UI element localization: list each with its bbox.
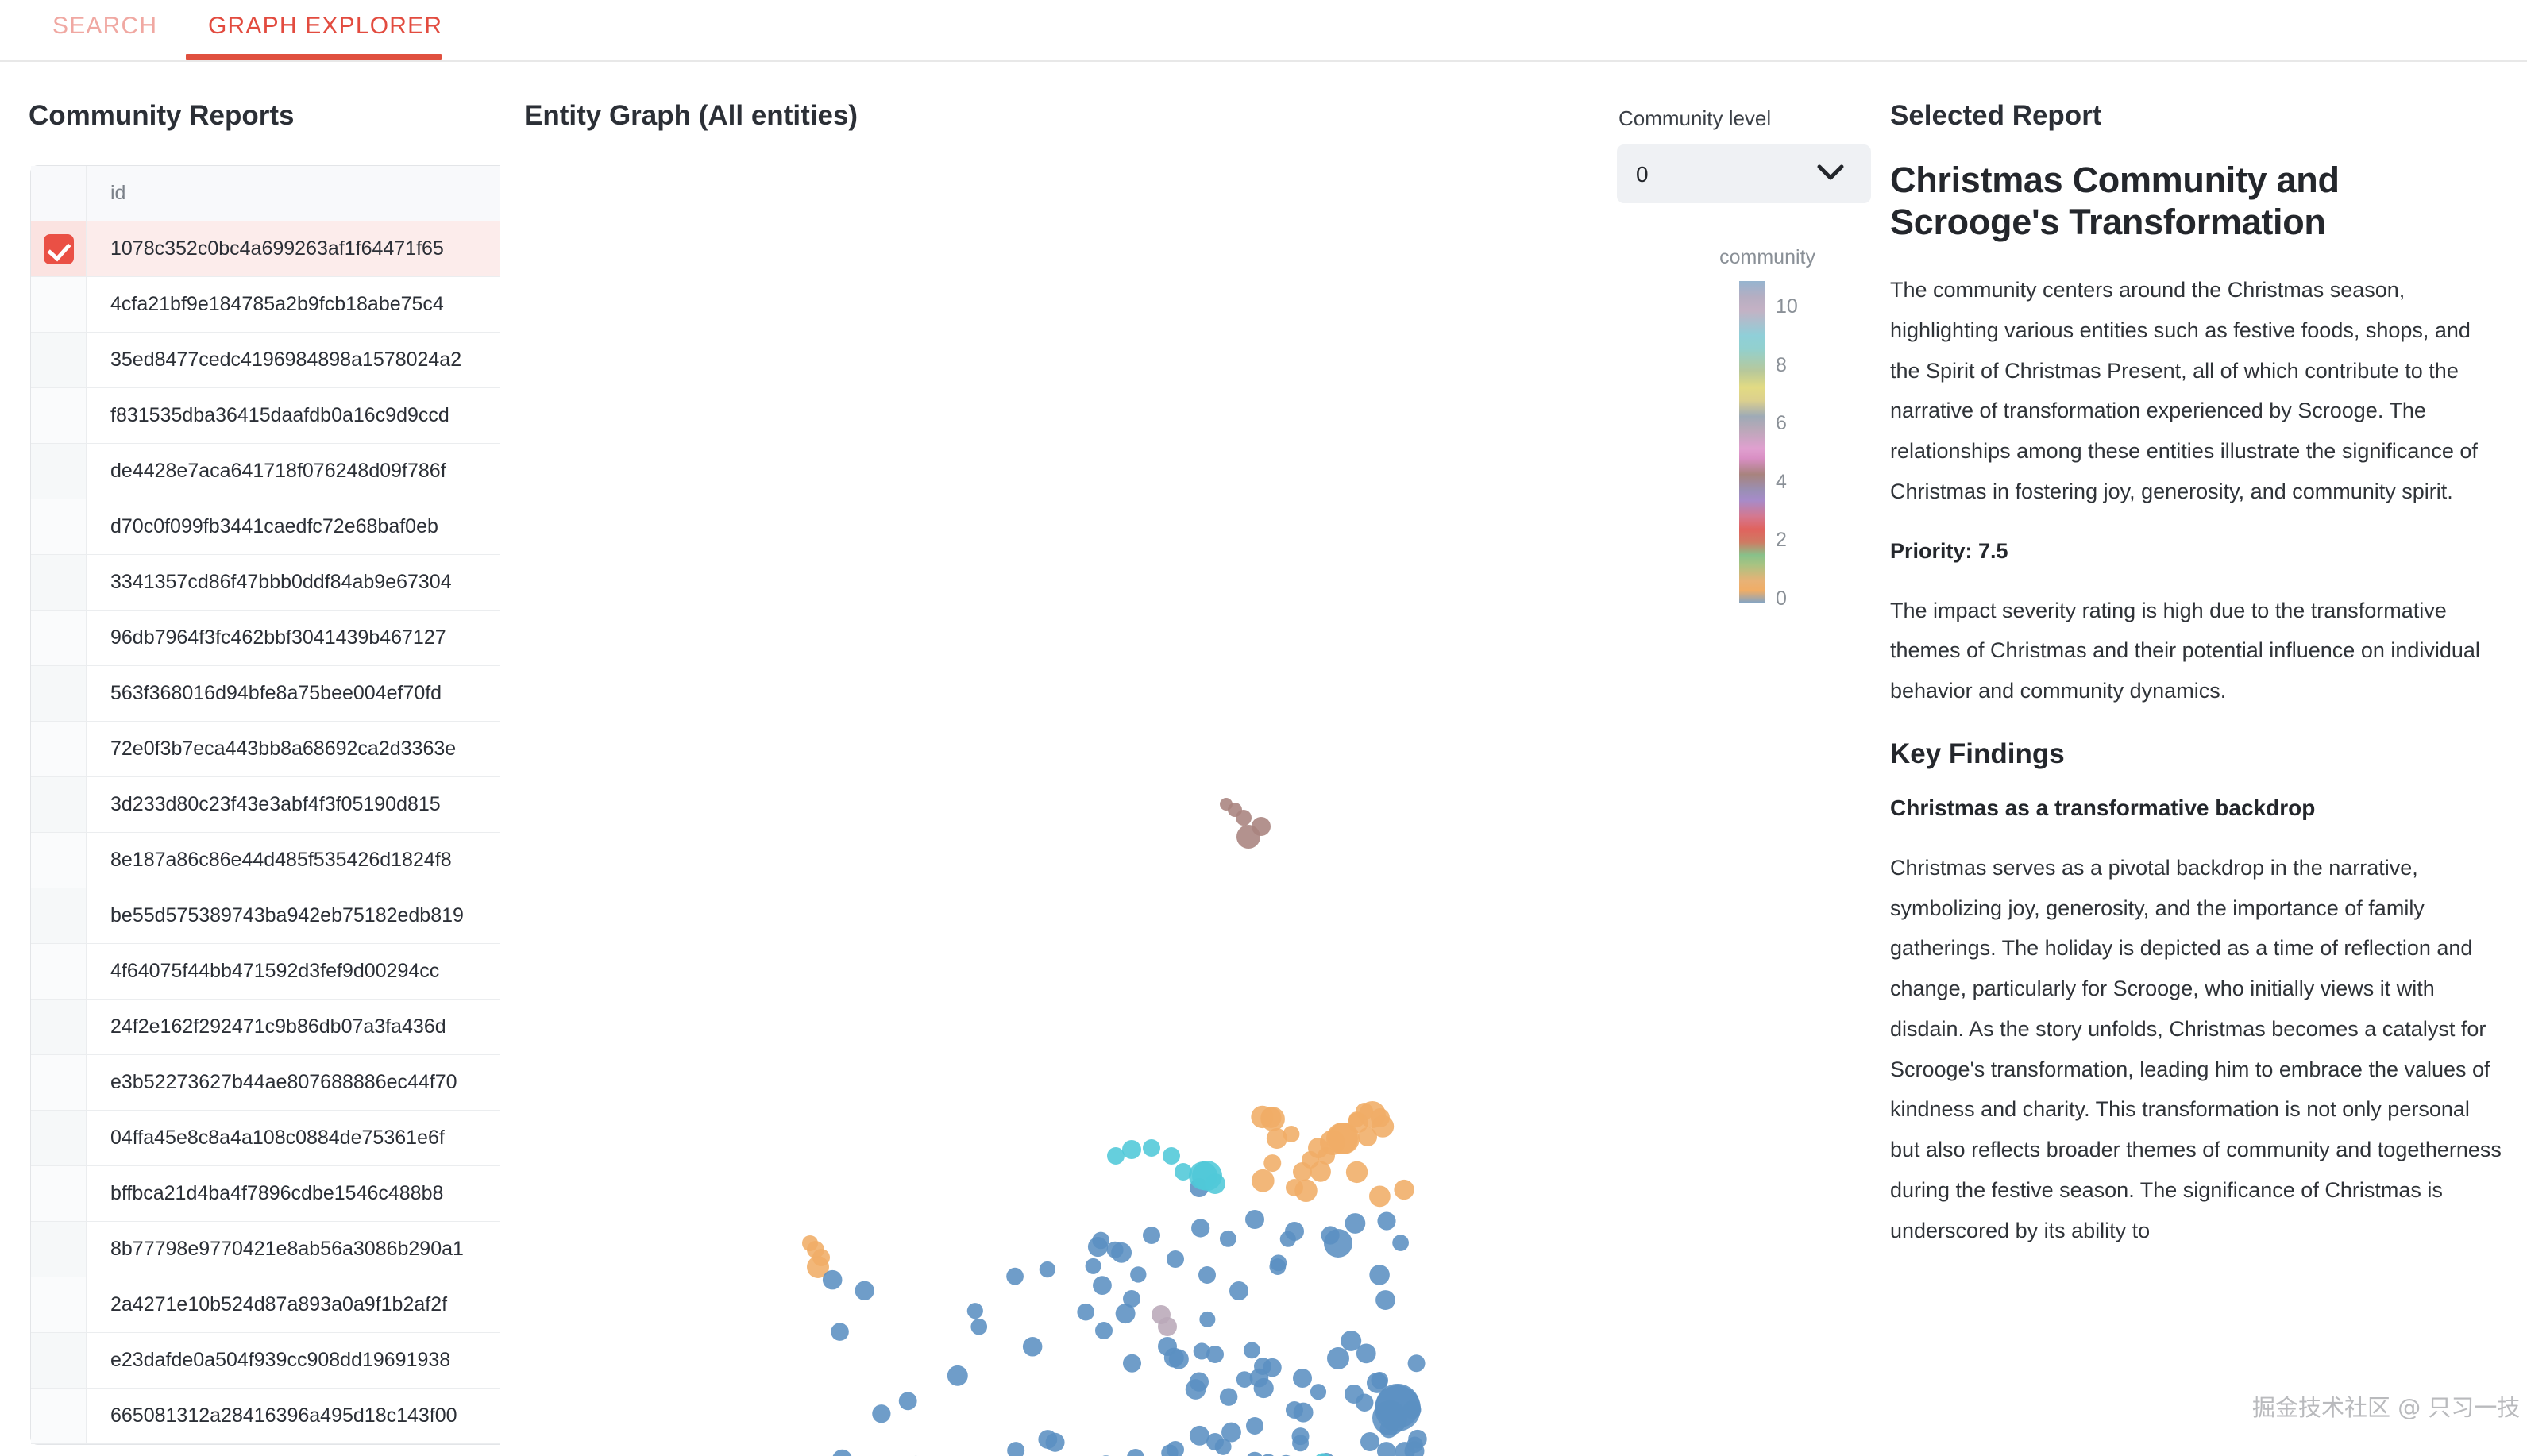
graph-node[interactable] xyxy=(1369,1265,1390,1285)
cell-title: Co xyxy=(484,499,500,555)
table-row[interactable]: be55d575389743ba942eb75182edb819Fe xyxy=(31,888,500,944)
cell-title: Cr xyxy=(484,666,500,722)
checkbox-icon[interactable] xyxy=(44,568,74,598)
cell-title: Fe xyxy=(484,944,500,1000)
table-row[interactable]: 8b77798e9770421e8ab56a3086b290a1Ma xyxy=(31,1222,500,1277)
graph-node[interactable] xyxy=(1294,1403,1314,1423)
graph-node[interactable] xyxy=(1023,1337,1042,1356)
checkbox-icon[interactable] xyxy=(44,957,74,987)
report-heading: Christmas Community and Scrooge's Transf… xyxy=(1890,159,2502,243)
column-header-title[interactable]: ↑ t xyxy=(484,166,500,221)
row-checkbox-cell[interactable] xyxy=(31,277,87,333)
community-level-label: Community level xyxy=(1618,106,1771,131)
cell-title: Ch xyxy=(484,221,500,277)
legend-title: community xyxy=(1719,246,1815,269)
legend-tick-8: 8 xyxy=(1776,354,1787,377)
cell-id: 665081312a28416396a495d18c143f00 xyxy=(87,1389,484,1444)
table-row[interactable]: 665081312a28416396a495d18c143f00Ol xyxy=(31,1389,500,1444)
report-priority: Priority: 7.5 xyxy=(1890,539,2502,564)
cell-id: be55d575389743ba942eb75182edb819 xyxy=(87,888,484,944)
row-checkbox-cell[interactable] xyxy=(31,611,87,666)
report-summary: The community centers around the Christm… xyxy=(1890,270,2502,512)
graph-node[interactable] xyxy=(1220,1388,1237,1405)
cell-id: 35ed8477cedc4196984898a1578024a2 xyxy=(87,333,484,388)
checkbox-icon[interactable] xyxy=(44,1068,74,1098)
cell-id: 72e0f3b7eca443bb8a68692ca2d3363e xyxy=(87,722,484,777)
graph-node[interactable] xyxy=(967,1303,983,1319)
checkbox-icon[interactable] xyxy=(44,1290,74,1320)
cell-id: e3b52273627b44ae807688886ec44f70 xyxy=(87,1055,484,1111)
graph-node[interactable] xyxy=(1377,1442,1396,1456)
graph-node[interactable] xyxy=(1158,1317,1177,1336)
graph-node[interactable] xyxy=(1292,1427,1310,1445)
graph-node[interactable] xyxy=(1191,1219,1209,1237)
cell-id: 24f2e162f292471c9b86db07a3fa436d xyxy=(87,1000,484,1055)
graph-node[interactable] xyxy=(1040,1261,1055,1277)
checkbox-icon[interactable] xyxy=(44,512,74,542)
table-row[interactable]: f831535dba36415daafdb0a16c9d9ccdCh xyxy=(31,388,500,444)
graph-node[interactable] xyxy=(1263,1154,1281,1172)
graph-node[interactable] xyxy=(1250,1369,1269,1388)
graph-node[interactable] xyxy=(1293,1162,1312,1181)
graph-node[interactable] xyxy=(1294,1179,1318,1202)
graph-node[interactable] xyxy=(1280,1231,1296,1247)
graph-node[interactable] xyxy=(1375,1290,1395,1310)
graph-node[interactable] xyxy=(1127,1449,1144,1456)
cell-id: 4f64075f44bb471592d3fef9d00294cc xyxy=(87,944,484,1000)
cell-id: f831535dba36415daafdb0a16c9d9ccd xyxy=(87,388,484,444)
cell-title: Ol xyxy=(484,1389,500,1444)
graph-node[interactable] xyxy=(1093,1276,1112,1295)
graph-node-hub[interactable] xyxy=(1375,1385,1421,1431)
graph-node[interactable] xyxy=(1163,1147,1180,1165)
graph-node[interactable] xyxy=(1246,1452,1263,1456)
row-checkbox-cell[interactable] xyxy=(31,1333,87,1389)
community-level-select[interactable]: 01234 xyxy=(1617,144,1871,203)
graph-node[interactable] xyxy=(1341,1331,1361,1351)
graph-node[interactable] xyxy=(1345,1213,1366,1234)
active-tab-indicator xyxy=(186,54,442,60)
legend-tick-0: 0 xyxy=(1776,587,1787,611)
row-checkbox-cell[interactable] xyxy=(31,888,87,944)
graph-node[interactable] xyxy=(1220,1231,1236,1247)
table-row[interactable]: 2a4271e10b524d87a893a0a9f1b2af2fMe xyxy=(31,1277,500,1333)
checkbox-icon[interactable] xyxy=(44,1012,74,1042)
table-row[interactable]: 8e187a86c86e44d485f535426d1824f8Eb xyxy=(31,833,500,888)
row-checkbox-cell[interactable] xyxy=(31,499,87,555)
key-findings-heading: Key Findings xyxy=(1890,738,2502,770)
cell-id: e23dafde0a504f939cc908dd19691938 xyxy=(87,1333,484,1389)
tab-search[interactable]: SEARCH xyxy=(41,6,168,57)
cell-title: Ch xyxy=(484,444,500,499)
cell-id: d70c0f099fb3441caedfc72e68baf0eb xyxy=(87,499,484,555)
graph-node[interactable] xyxy=(1122,1140,1141,1159)
checkbox-icon[interactable] xyxy=(44,679,74,709)
cell-id: 1078c352c0bc4a699263af1f64471f65 xyxy=(87,221,484,277)
graph-node[interactable] xyxy=(1360,1432,1379,1451)
checkbox-icon[interactable] xyxy=(44,290,74,320)
graph-node[interactable] xyxy=(1007,1442,1024,1456)
cell-title: Ol xyxy=(484,1333,500,1389)
graph-node-hub[interactable] xyxy=(1192,1161,1222,1191)
graph-node[interactable] xyxy=(1086,1258,1101,1274)
graph-node[interactable] xyxy=(899,1392,917,1410)
row-checkbox-cell[interactable] xyxy=(31,1277,87,1333)
graph-node[interactable] xyxy=(832,1450,852,1456)
graph-node[interactable] xyxy=(1267,1128,1287,1149)
row-checkbox-cell[interactable] xyxy=(31,1055,87,1111)
row-checkbox-cell[interactable] xyxy=(31,221,87,277)
table-row[interactable]: 3341357cd86f47bbb0ddf84ab9e67304Co xyxy=(31,555,500,611)
entity-graph-title: Entity Graph (All entities) xyxy=(524,100,858,132)
checkbox-icon[interactable] xyxy=(44,1235,74,1265)
graph-node[interactable] xyxy=(947,1365,968,1386)
graph-node[interactable] xyxy=(1293,1369,1312,1388)
graph-node[interactable] xyxy=(855,1281,874,1300)
cell-id: 96db7964f3fc462bbf3041439b467127 xyxy=(87,611,484,666)
cell-title: Lig xyxy=(484,1111,500,1166)
checkbox-icon[interactable] xyxy=(44,734,74,765)
row-checkbox-cell[interactable] xyxy=(31,666,87,722)
finding-title: Christmas as a transformative backdrop xyxy=(1890,795,2502,821)
graph-node[interactable] xyxy=(1246,1417,1263,1435)
graph-node[interactable] xyxy=(1186,1379,1206,1400)
cell-title: Eb xyxy=(484,722,500,777)
checkbox-checked-icon[interactable] xyxy=(44,234,74,264)
cell-title: Ch xyxy=(484,388,500,444)
checkbox-icon[interactable] xyxy=(44,345,74,376)
graph-node[interactable] xyxy=(1260,1107,1285,1131)
cell-id: 3341357cd86f47bbb0ddf84ab9e67304 xyxy=(87,555,484,611)
tab-bar: SEARCH GRAPH EXPLORER xyxy=(0,0,2527,62)
row-checkbox-cell[interactable] xyxy=(31,1222,87,1277)
checkbox-icon[interactable] xyxy=(44,901,74,931)
cell-id: de4428e7aca641718f076248d09f786f xyxy=(87,444,484,499)
cell-id: 2a4271e10b524d87a893a0a9f1b2af2f xyxy=(87,1277,484,1333)
row-checkbox-cell[interactable] xyxy=(31,722,87,777)
graph-node-hub[interactable] xyxy=(1328,1123,1360,1154)
community-reports-title: Community Reports xyxy=(29,100,294,132)
cell-title: Ch xyxy=(484,277,500,333)
graph-node[interactable] xyxy=(1356,1393,1374,1412)
graph-node[interactable] xyxy=(1046,1433,1065,1452)
checkbox-icon[interactable] xyxy=(44,401,74,431)
checkbox-icon[interactable] xyxy=(44,1401,74,1431)
row-checkbox-cell[interactable] xyxy=(31,1111,87,1166)
graph-node[interactable] xyxy=(1190,1426,1209,1446)
row-checkbox-cell[interactable] xyxy=(31,1166,87,1222)
graph-node[interactable] xyxy=(1092,1232,1109,1250)
cell-title: Ge xyxy=(484,1000,500,1055)
cell-id: 3d233d80c23f43e3abf4f3f05190d815 xyxy=(87,777,484,833)
graph-node[interactable] xyxy=(872,1404,890,1423)
table-row[interactable]: 1078c352c0bc4a699263af1f64471f65Ch xyxy=(31,221,500,277)
table-row[interactable]: 3d233d80c23f43e3abf4f3f05190d815Eb xyxy=(31,777,500,833)
graph-node[interactable] xyxy=(823,1270,843,1290)
graph-node[interactable] xyxy=(1327,1347,1349,1369)
graph-node[interactable] xyxy=(1123,1354,1141,1373)
table-body: 1078c352c0bc4a699263af1f64471f65Ch4cfa21… xyxy=(31,221,500,1444)
cell-title: Fe xyxy=(484,888,500,944)
graph-node[interactable] xyxy=(1164,1348,1184,1368)
checkbox-icon[interactable] xyxy=(44,1123,74,1154)
graph-node[interactable] xyxy=(1310,1161,1331,1182)
checkbox-icon[interactable] xyxy=(44,456,74,487)
graph-node[interactable] xyxy=(1245,1210,1264,1229)
table-row[interactable]: e3b52273627b44ae807688886ec44f70Im xyxy=(31,1055,500,1111)
community-reports-table: id ↑ t 1078c352c0bc4a699263af1f64471f65C… xyxy=(30,165,500,1445)
graph-node[interactable] xyxy=(1111,1242,1132,1263)
row-checkbox-cell[interactable] xyxy=(31,444,87,499)
graph-node[interactable] xyxy=(802,1235,818,1251)
row-checkbox-cell[interactable] xyxy=(31,1000,87,1055)
graph-node[interactable] xyxy=(1198,1266,1216,1284)
graph-node[interactable] xyxy=(1244,1342,1260,1358)
cell-id: bffbca21d4ba4f7896cdbe1546c488b8 xyxy=(87,1166,484,1222)
cell-id: 8b77798e9770421e8ab56a3086b290a1 xyxy=(87,1222,484,1277)
table-header: id ↑ t xyxy=(31,166,500,221)
selected-report-title: Selected Report xyxy=(1890,100,2101,132)
cell-title: Eb xyxy=(484,777,500,833)
cell-title: Co xyxy=(484,555,500,611)
table-row[interactable]: 96db7964f3fc462bbf3041439b467127Cr xyxy=(31,611,500,666)
legend-tick-10: 10 xyxy=(1776,295,1798,318)
graph-node[interactable] xyxy=(1107,1147,1125,1165)
selected-report-body: Christmas Community and Scrooge's Transf… xyxy=(1890,159,2502,1456)
graph-node[interactable] xyxy=(970,1319,987,1335)
graph-node[interactable] xyxy=(1346,1161,1368,1183)
table-row[interactable]: d70c0f099fb3441caedfc72e68baf0ebCo xyxy=(31,499,500,555)
graph-node[interactable] xyxy=(1406,1437,1422,1453)
cell-title: Ma xyxy=(484,1166,500,1222)
graph-node[interactable] xyxy=(1095,1322,1113,1339)
graph-node[interactable] xyxy=(1167,1250,1184,1268)
graph-node[interactable] xyxy=(1143,1227,1160,1244)
legend-gradient-bar xyxy=(1739,281,1765,603)
cell-title: Me xyxy=(484,1277,500,1333)
cell-id: 4cfa21bf9e184785a2b9fcb18abe75c4 xyxy=(87,277,484,333)
graph-node[interactable] xyxy=(1143,1139,1160,1157)
graph-node[interactable] xyxy=(1199,1312,1215,1327)
cell-title: Ma xyxy=(484,1222,500,1277)
report-priority-explanation: The impact severity rating is high due t… xyxy=(1890,591,2502,711)
graph-node[interactable] xyxy=(1269,1258,1286,1275)
graph-node[interactable] xyxy=(1369,1186,1391,1208)
graph-node[interactable] xyxy=(1229,1281,1248,1300)
graph-node[interactable] xyxy=(1252,817,1271,836)
table-row[interactable]: e23dafde0a504f939cc908dd19691938Ol xyxy=(31,1333,500,1389)
table-row[interactable]: 35ed8477cedc4196984898a1578024a2Ch xyxy=(31,333,500,388)
cell-title: Im xyxy=(484,1055,500,1111)
cell-title: Cr xyxy=(484,611,500,666)
graph-node-group xyxy=(802,798,1427,1456)
checkbox-icon[interactable] xyxy=(44,623,74,653)
legend-tick-4: 4 xyxy=(1776,471,1787,494)
checkbox-icon[interactable] xyxy=(44,790,74,820)
cell-title: Ch xyxy=(484,333,500,388)
community-reports-table-wrapper[interactable]: id ↑ t 1078c352c0bc4a699263af1f64471f65C… xyxy=(30,165,500,1456)
graph-node[interactable] xyxy=(1221,1423,1241,1443)
graph-node[interactable] xyxy=(1116,1304,1136,1323)
graph-node[interactable] xyxy=(1408,1354,1426,1372)
graph-node[interactable] xyxy=(1194,1342,1210,1359)
table-row[interactable]: 72e0f3b7eca443bb8a68692ca2d3363eEb xyxy=(31,722,500,777)
cell-id: 8e187a86c86e44d485f535426d1824f8 xyxy=(87,833,484,888)
cell-id: 04ffa45e8c8a4a108c0884de75361e6f xyxy=(87,1111,484,1166)
community-colorbar-legend: community 10 8 6 4 2 0 xyxy=(1739,246,1874,603)
finding-body: Christmas serves as a pivotal backdrop i… xyxy=(1890,848,2502,1251)
column-header-id[interactable]: id xyxy=(87,166,484,221)
row-checkbox-cell[interactable] xyxy=(31,333,87,388)
table-row[interactable]: 563f368016d94bfe8a75bee004ef70fdCr xyxy=(31,666,500,722)
table-row[interactable]: 4cfa21bf9e184785a2b9fcb18abe75c4Ch xyxy=(31,277,500,333)
graph-node[interactable] xyxy=(1372,1115,1394,1138)
graph-node[interactable] xyxy=(1220,798,1233,811)
graph-node[interactable] xyxy=(1377,1211,1395,1230)
graph-node[interactable] xyxy=(1006,1268,1024,1285)
table-row[interactable]: 24f2e162f292471c9b86db07a3fa436dGe xyxy=(31,1000,500,1055)
cell-title: Eb xyxy=(484,833,500,888)
table-header-row: id ↑ t xyxy=(31,166,500,221)
graph-node[interactable] xyxy=(1077,1304,1094,1321)
graph-node[interactable] xyxy=(1321,1226,1339,1244)
graph-node[interactable] xyxy=(1252,1169,1275,1192)
row-checkbox-cell[interactable] xyxy=(31,833,87,888)
graph-node[interactable] xyxy=(1310,1384,1326,1400)
select-all-header[interactable] xyxy=(31,166,87,221)
entity-graph-canvas[interactable] xyxy=(508,140,1604,1456)
row-checkbox-cell[interactable] xyxy=(31,555,87,611)
row-checkbox-cell[interactable] xyxy=(31,944,87,1000)
graph-node[interactable] xyxy=(1130,1266,1146,1282)
graph-node[interactable] xyxy=(1392,1235,1409,1251)
graph-node[interactable] xyxy=(1394,1180,1414,1200)
table-row[interactable]: 4f64075f44bb471592d3fef9d00294ccFe xyxy=(31,944,500,1000)
legend-tick-6: 6 xyxy=(1776,412,1787,435)
row-checkbox-cell[interactable] xyxy=(31,1389,87,1444)
row-checkbox-cell[interactable] xyxy=(31,388,87,444)
table-row[interactable]: de4428e7aca641718f076248d09f786fCh xyxy=(31,444,500,499)
graph-node[interactable] xyxy=(831,1323,849,1341)
checkbox-icon[interactable] xyxy=(44,1179,74,1209)
legend-tick-2: 2 xyxy=(1776,529,1787,552)
cell-id: 563f368016d94bfe8a75bee004ef70fd xyxy=(87,666,484,722)
checkbox-icon[interactable] xyxy=(44,1346,74,1376)
tab-graph-explorer[interactable]: GRAPH EXPLORER xyxy=(197,6,453,57)
table-row[interactable]: bffbca21d4ba4f7896cdbe1546c488b8Ma xyxy=(31,1166,500,1222)
row-checkbox-cell[interactable] xyxy=(31,777,87,833)
checkbox-icon[interactable] xyxy=(44,845,74,876)
entity-graph-svg[interactable] xyxy=(508,140,1604,1456)
table-row[interactable]: 04ffa45e8c8a4a108c0884de75361e6fLig xyxy=(31,1111,500,1166)
